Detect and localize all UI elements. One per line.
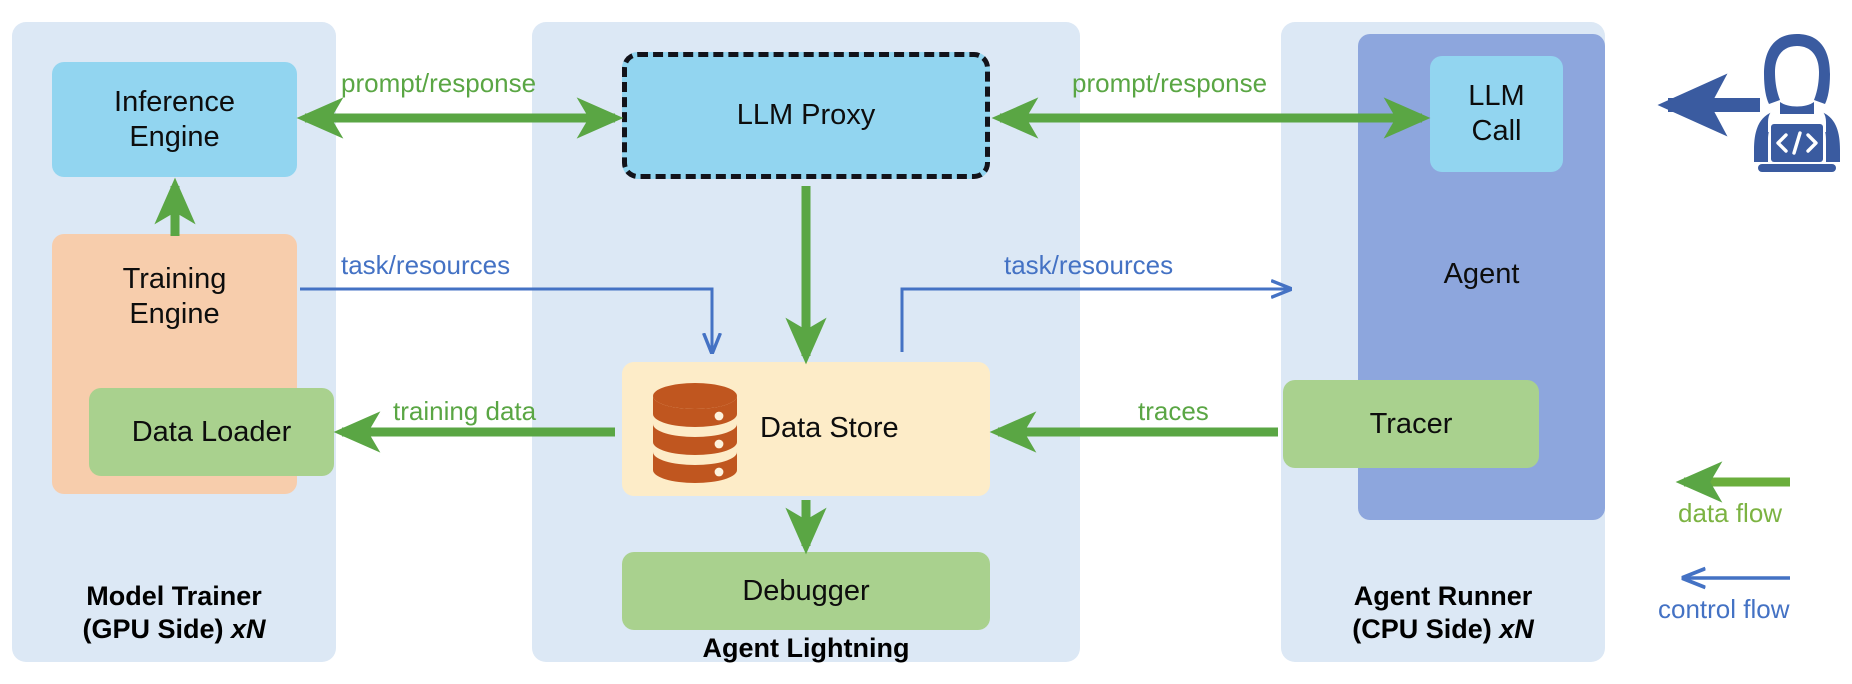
edge-label-prompt-response-left: prompt/response [341, 68, 536, 99]
edge-label-task-resources-right: task/resources [1004, 250, 1173, 281]
group-agent-lightning-label: Agent Lightning [532, 632, 1080, 665]
node-llm-call[interactable]: LLM Call [1430, 56, 1563, 172]
legend-data-flow-label: data flow [1678, 498, 1782, 529]
node-data-store-label: Data Store [760, 412, 899, 445]
node-debugger-label: Debugger [742, 574, 869, 609]
node-inference-engine-label: Inference Engine [114, 85, 235, 155]
edge-label-traces: traces [1138, 396, 1209, 427]
agent-label: Agent [1358, 258, 1605, 291]
node-tracer-label: Tracer [1370, 407, 1453, 442]
node-inference-engine[interactable]: Inference Engine [52, 62, 297, 177]
group-model-trainer-label: Model Trainer (GPU Side) xN [12, 580, 336, 646]
node-llm-proxy-label: LLM Proxy [737, 98, 876, 133]
edge-label-task-resources-left: task/resources [341, 250, 510, 281]
diagram-canvas: Agent Inference Engine Training Engine D… [0, 0, 1852, 684]
node-data-loader-label: Data Loader [132, 415, 292, 450]
developer-icon [1742, 28, 1852, 178]
group-agent-runner-label: Agent Runner (CPU Side) xN [1281, 580, 1605, 646]
node-llm-proxy[interactable]: LLM Proxy [622, 52, 990, 179]
edge-label-training-data: training data [393, 396, 536, 427]
edge-label-prompt-response-right: prompt/response [1072, 68, 1267, 99]
node-data-loader[interactable]: Data Loader [89, 388, 334, 476]
group-model-trainer-suffix: xN [231, 614, 266, 644]
node-training-engine-label: Training Engine [123, 262, 227, 332]
group-agent-lightning-text: Agent Lightning [703, 633, 910, 663]
node-debugger[interactable]: Debugger [622, 552, 990, 630]
node-llm-call-label: LLM Call [1468, 79, 1524, 149]
legend-control-flow-label: control flow [1658, 594, 1790, 625]
database-icon [645, 380, 745, 484]
group-agent-runner-suffix: xN [1499, 614, 1534, 644]
node-tracer[interactable]: Tracer [1283, 380, 1539, 468]
